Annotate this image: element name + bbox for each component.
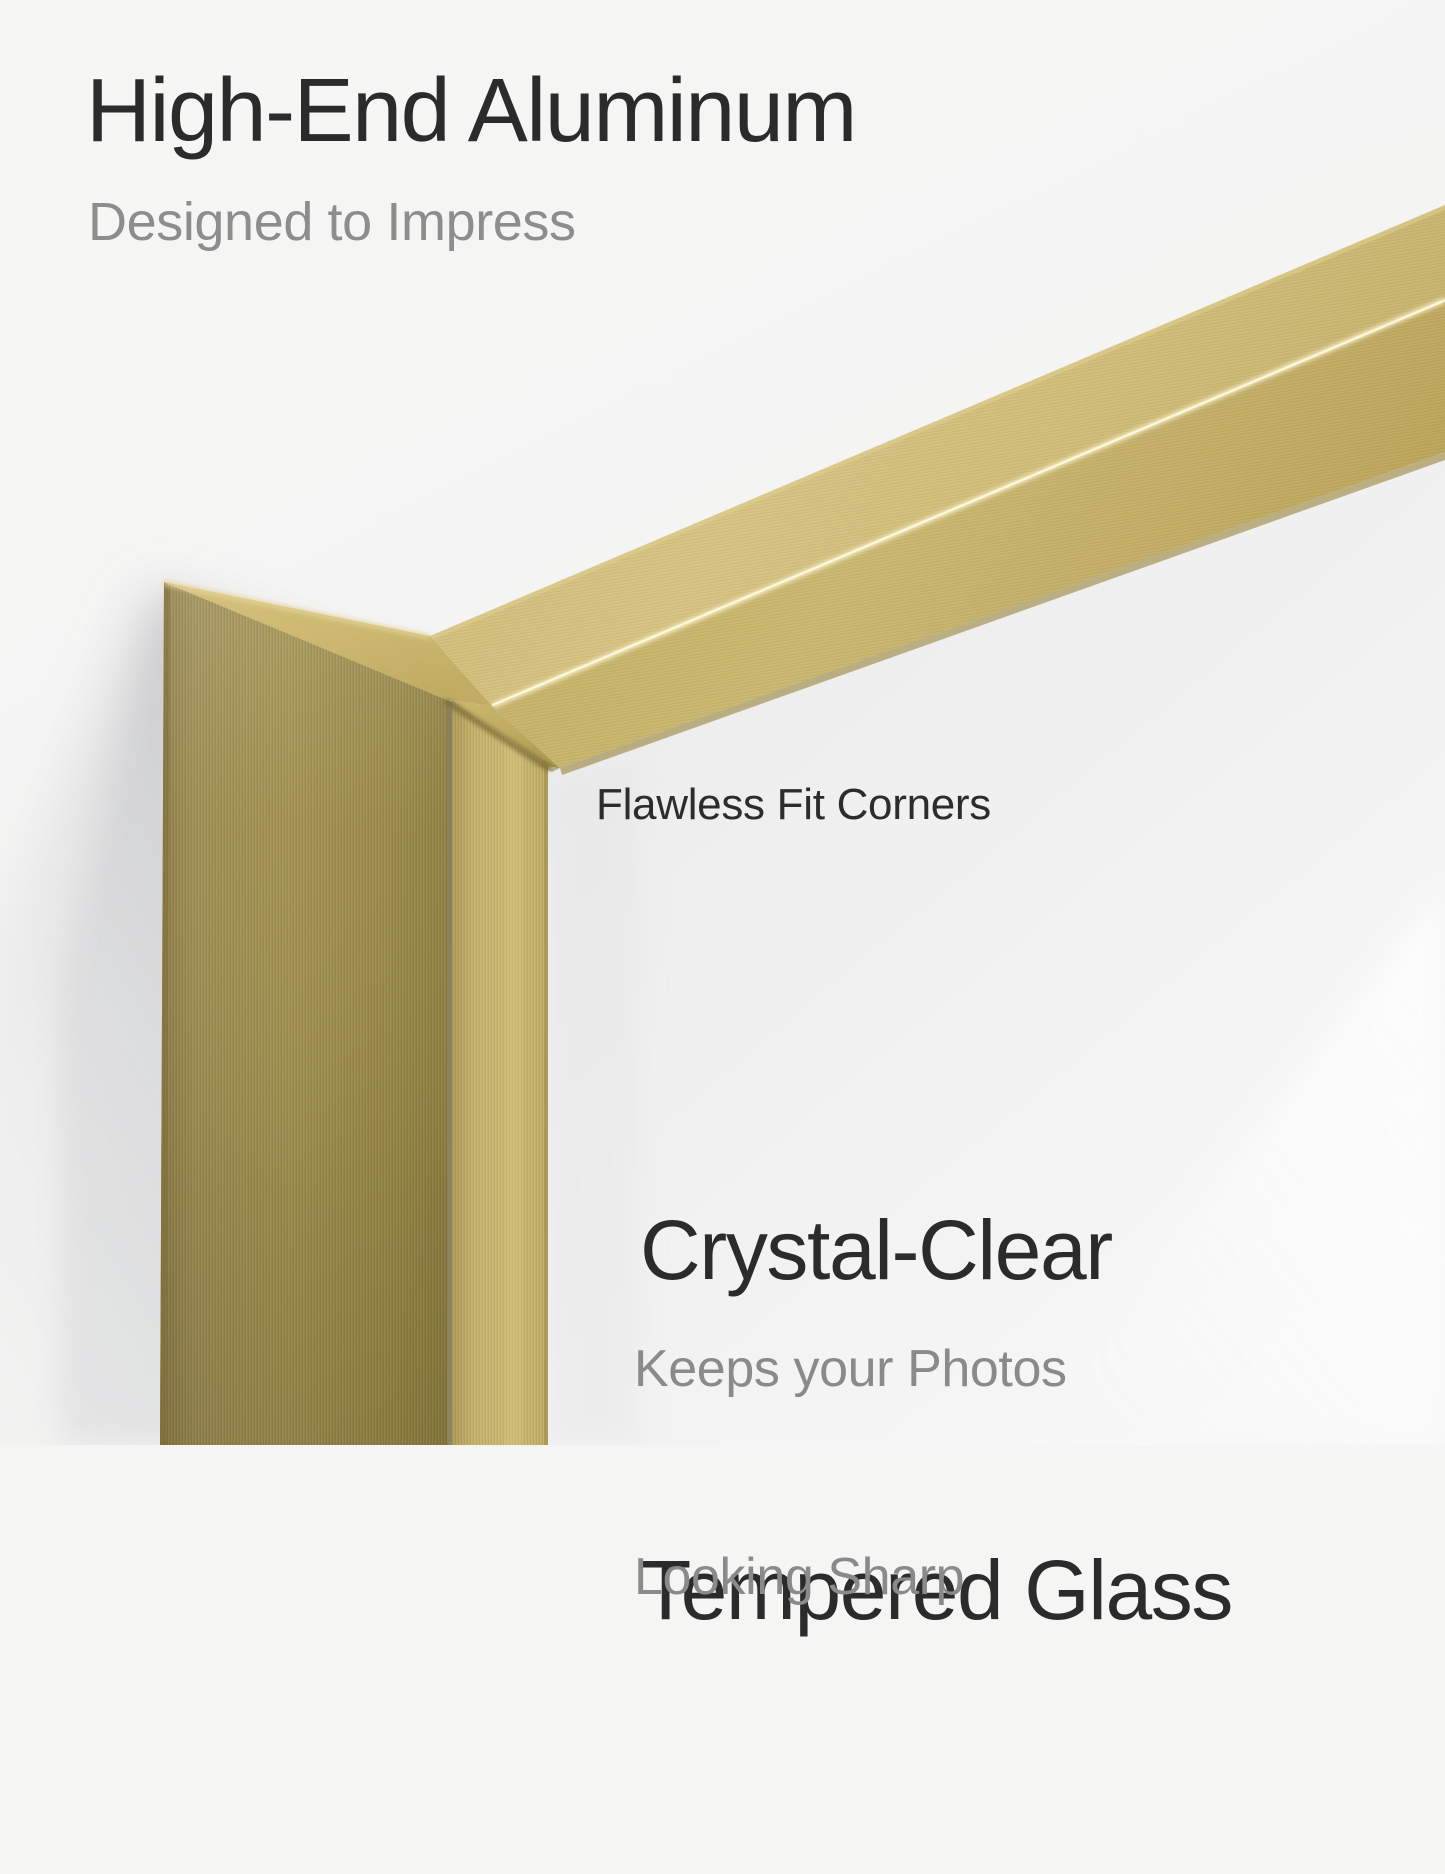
product-feature-image: High-End Aluminum Designed to Impress Fl…: [0, 0, 1445, 1445]
feature-subtitle-line-2: Looking Sharp: [634, 1543, 1067, 1612]
callout-flawless-fit-corners: Flawless Fit Corners: [596, 783, 991, 827]
page-title: High-End Aluminum: [86, 66, 856, 156]
page-subtitle: Designed to Impress: [88, 195, 576, 249]
feature-subtitle-line-1: Keeps your Photos: [634, 1335, 1067, 1404]
feature-subtitle-tempered-glass: Keeps your Photos Looking Sharp: [634, 1197, 1067, 1750]
